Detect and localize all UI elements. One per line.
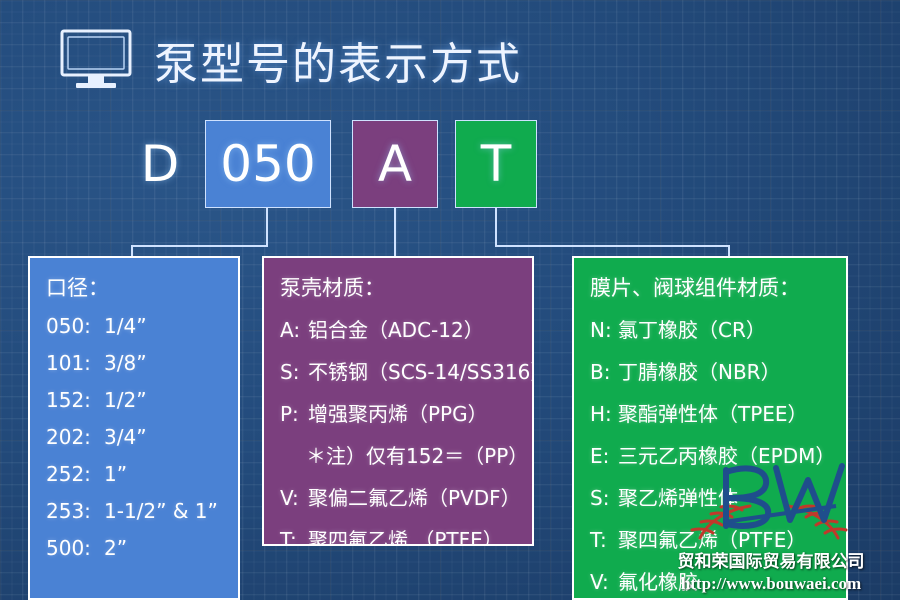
diaphragm-row-s: S:聚乙烯弹性体 (590, 482, 832, 511)
diaphragm-value: 三元乙丙橡胶（EPDM） (618, 444, 835, 468)
bore-key: 252: (46, 462, 104, 486)
bore-value: 3/4” (104, 425, 147, 449)
bore-key: 253: (46, 499, 104, 523)
casing-note-value: ＊注）仅有152＝（PP） (306, 444, 528, 468)
code-segment-d[interactable]: D (130, 120, 190, 208)
bore-value: 1-1/2” & 1” (104, 499, 218, 523)
diaphragm-value: 聚四氟乙烯（PTFE） (618, 528, 806, 552)
casing-value: 增强聚丙烯（PPG） (308, 402, 488, 426)
bore-row-202: 202:3/4” (46, 425, 224, 449)
diaphragm-key: V: (590, 570, 618, 594)
bore-value: 1/2” (104, 388, 147, 412)
code-segment-a[interactable]: A (352, 120, 438, 208)
casing-value: 不锈钢（SCS-14/SS316） (308, 360, 534, 384)
bore-key: 152: (46, 388, 104, 412)
slide-canvas: 泵型号的表示方式 D 050 A T 口径： 050:1/4” 101:3/8”… (0, 0, 900, 600)
casing-row-v: V:聚偏二氟乙烯（PVDF） (280, 482, 518, 511)
casing-key: P: (280, 402, 308, 426)
monitor-icon (60, 29, 132, 91)
casing-key: V: (280, 486, 308, 510)
panel-bore: 口径： 050:1/4” 101:3/8” 152:1/2” 202:3/4” … (28, 256, 240, 600)
diaphragm-value: 氟化橡胶 (618, 570, 698, 594)
diaphragm-value: 聚乙烯弹性体 (618, 486, 738, 510)
casing-value: 铝合金（ADC-12） (308, 318, 484, 342)
diaphragm-key: B: (590, 360, 618, 384)
casing-value: 聚偏二氟乙烯（PVDF） (308, 486, 521, 510)
panel-diaphragm-title: 膜片、阀球组件材质： (590, 272, 832, 302)
code-segment-t[interactable]: T (455, 120, 537, 208)
casing-row-a: A:铝合金（ADC-12） (280, 314, 518, 343)
connector-050-vertical (266, 208, 268, 246)
panel-casing-title: 泵壳材质： (280, 272, 518, 302)
bore-row-500: 500:2” (46, 536, 224, 560)
diaphragm-value: 聚酯弹性体（TPEE） (618, 402, 808, 426)
casing-row-s: S:不锈钢（SCS-14/SS316） (280, 356, 518, 385)
diaphragm-row-h: H:聚酯弹性体（TPEE） (590, 398, 832, 427)
bore-value: 1/4” (104, 314, 147, 338)
connector-a-vertical (394, 208, 396, 258)
panel-bore-title: 口径： (46, 272, 224, 302)
bore-row-050: 050:1/4” (46, 314, 224, 338)
diaphragm-row-t: T:聚四氟乙烯（PTFE） (590, 524, 832, 553)
bore-key: 050: (46, 314, 104, 338)
page-title: 泵型号的表示方式 (154, 28, 522, 92)
diaphragm-key: S: (590, 486, 618, 510)
casing-key: S: (280, 360, 308, 384)
diaphragm-row-e: E:三元乙丙橡胶（EPDM） (590, 440, 832, 469)
bore-value: 1” (104, 462, 127, 486)
connector-t-horizontal (495, 245, 730, 247)
connector-t-vertical (495, 208, 497, 246)
bore-key: 202: (46, 425, 104, 449)
panel-diaphragm-material: 膜片、阀球组件材质： N:氯丁橡胶（CR） B:丁腈橡胶（NBR） H:聚酯弹性… (572, 256, 848, 600)
diaphragm-key: H: (590, 402, 618, 426)
diaphragm-row-b: B:丁腈橡胶（NBR） (590, 356, 832, 385)
diaphragm-key: N: (590, 318, 618, 342)
casing-row-note: ＊注）仅有152＝（PP） (280, 440, 518, 469)
bore-key: 101: (46, 351, 104, 375)
page-header: 泵型号的表示方式 (60, 28, 522, 92)
bore-row-152: 152:1/2” (46, 388, 224, 412)
code-segment-050[interactable]: 050 (205, 120, 331, 208)
bore-row-252: 252:1” (46, 462, 224, 486)
diaphragm-key: E: (590, 444, 618, 468)
bore-row-101: 101:3/8” (46, 351, 224, 375)
bore-key: 500: (46, 536, 104, 560)
casing-row-p: P:增强聚丙烯（PPG） (280, 398, 518, 427)
diaphragm-row-v: V:氟化橡胶 (590, 566, 832, 595)
diaphragm-value: 氯丁橡胶（CR） (618, 318, 766, 342)
diaphragm-key: T: (590, 528, 618, 552)
connector-050-horizontal (131, 245, 268, 247)
casing-value: 聚四氟乙烯 （PTFE） (308, 528, 503, 546)
bore-row-253: 253:1-1/2” & 1” (46, 499, 224, 523)
bore-value: 2” (104, 536, 127, 560)
diaphragm-row-n: N:氯丁橡胶（CR） (590, 314, 832, 343)
diaphragm-value: 丁腈橡胶（NBR） (618, 360, 781, 384)
casing-key: T: (280, 528, 308, 546)
casing-key: A: (280, 318, 308, 342)
bore-value: 3/8” (104, 351, 147, 375)
panel-casing-material: 泵壳材质： A:铝合金（ADC-12） S:不锈钢（SCS-14/SS316） … (262, 256, 534, 546)
casing-row-t: T:聚四氟乙烯 （PTFE） (280, 524, 518, 546)
